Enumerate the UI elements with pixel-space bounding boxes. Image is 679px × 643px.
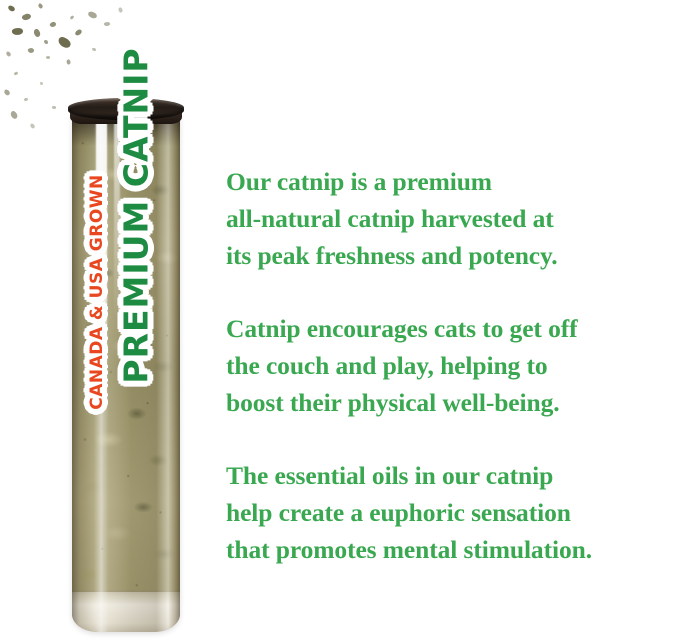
label-origin-column: CANADA & USA GROWN (82, 186, 112, 626)
product-label-sticker: CANADA & USA GROWN PREMIUM CATNIP (82, 186, 162, 626)
copy-paragraph-2: Catnip encourages cats to get off the co… (226, 310, 678, 421)
copy-paragraph-1: Our catnip is a premium all-natural catn… (226, 163, 678, 274)
product-infographic: CANADA & USA GROWN PREMIUM CATNIP Our ca… (0, 0, 679, 643)
catnip-tube: CANADA & USA GROWN PREMIUM CATNIP (72, 98, 180, 632)
label-origin-text: CANADA & USA GROWN (87, 174, 107, 410)
label-product-name: PREMIUM CATNIP (117, 47, 156, 383)
copy-paragraph-3: The essential oils in our catnip help cr… (226, 457, 678, 568)
label-product-column: PREMIUM CATNIP (110, 186, 162, 626)
marketing-copy-block: Our catnip is a premium all-natural catn… (226, 163, 678, 568)
